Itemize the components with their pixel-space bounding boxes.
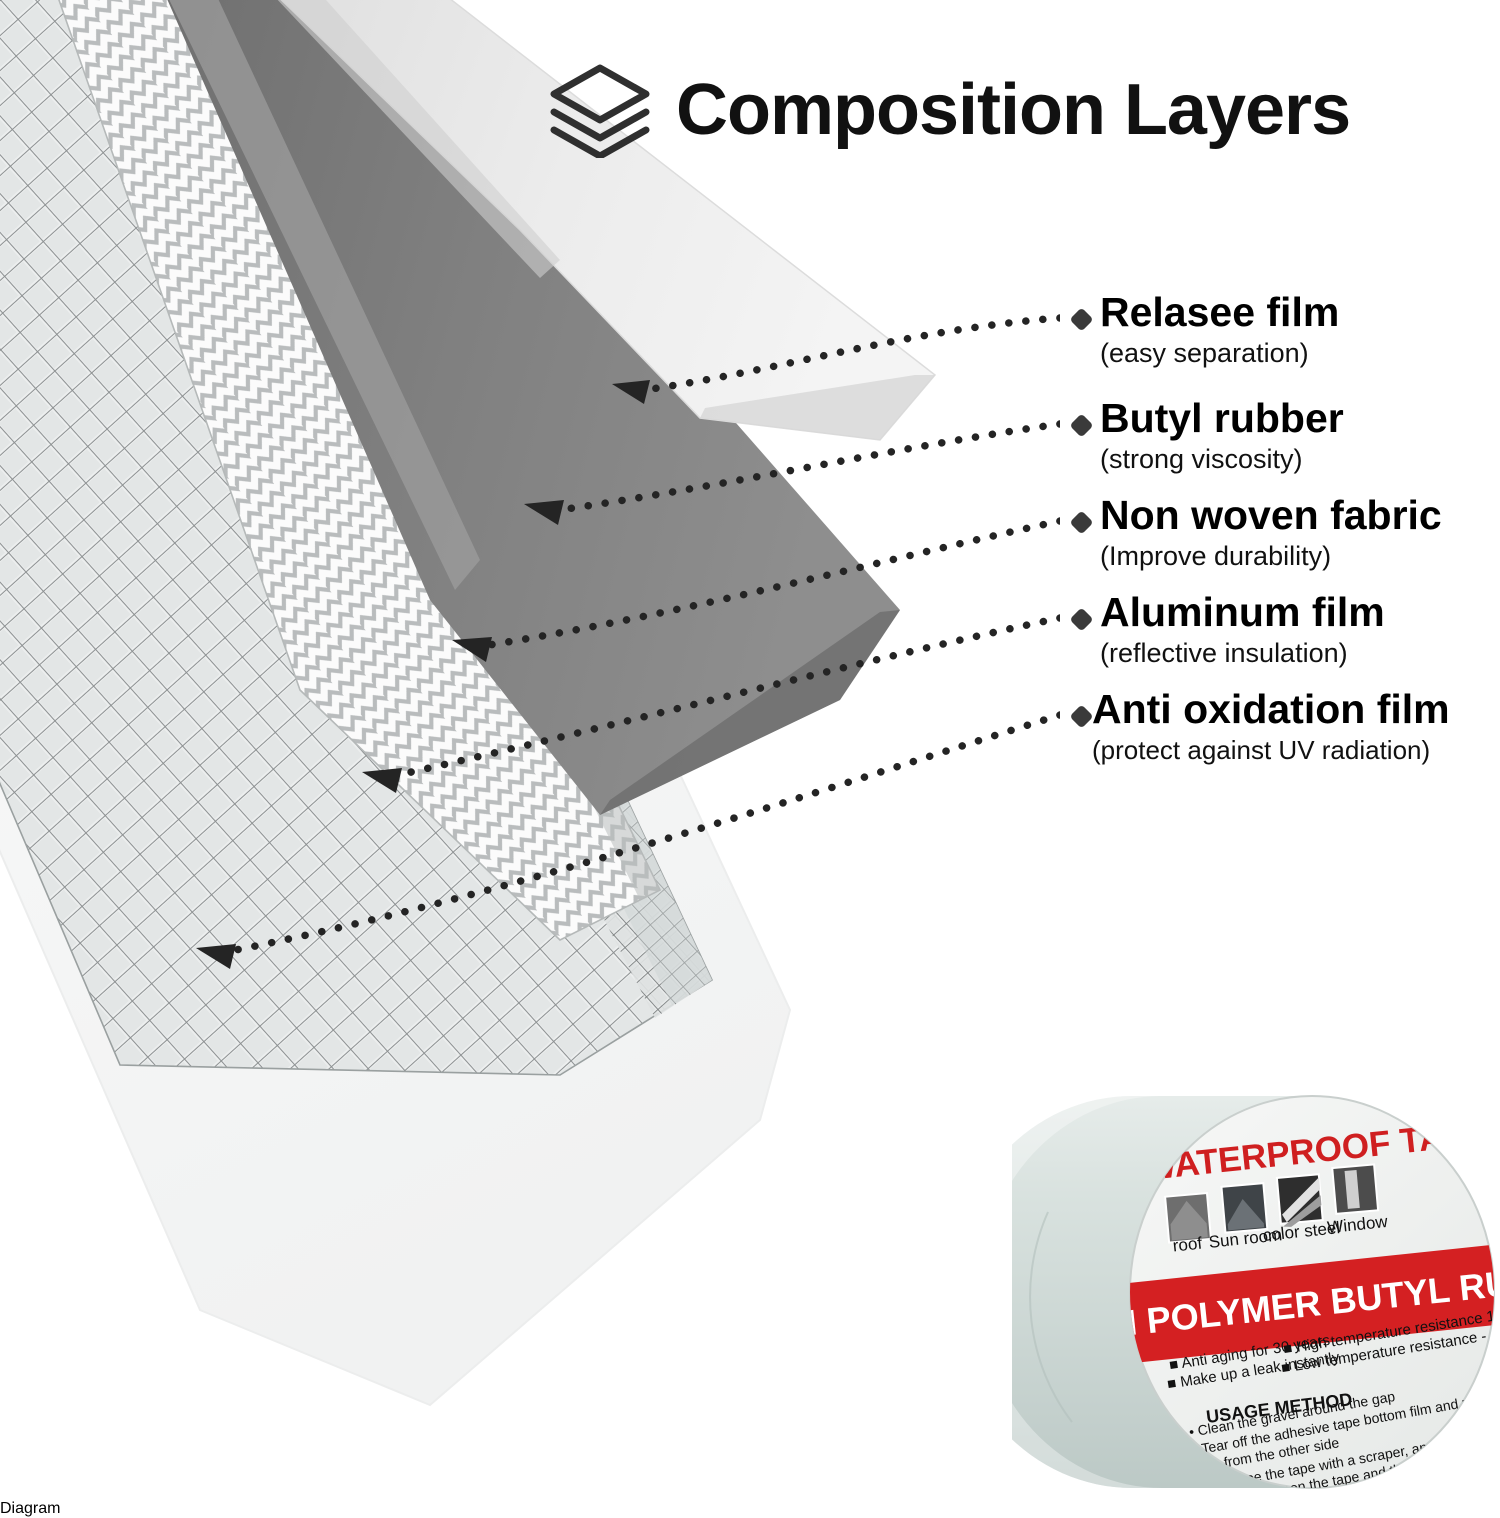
callout-butyl-rubber: Butyl rubber (strong viscosity) (1100, 398, 1344, 473)
callout-subtitle: (protect against UV radiation) (1092, 737, 1450, 763)
page-title-text: Composition Layers (676, 74, 1350, 146)
callout-subtitle: (strong viscosity) (1100, 446, 1344, 473)
composition-layers-diagram (0, 0, 1060, 1460)
callout-aluminum-film: Aluminum film (reflective insulation) (1100, 592, 1385, 667)
callout-subtitle: (Improve durability) (1100, 543, 1442, 570)
callout-dot-anti-oxidation-film (1069, 704, 1093, 728)
callout-title: Relasee film (1100, 292, 1339, 333)
layer-stack-icon (548, 62, 652, 158)
infographic-canvas: Composition Layers Relasee film (easy se… (0, 0, 1500, 1500)
product-roll-image: WATERPROOF TAPE roof Sun room color stee… (1012, 1092, 1500, 1492)
thumb-caption-roof: roof (1172, 1234, 1203, 1256)
callout-release-film: Relasee film (easy separation) (1100, 292, 1339, 367)
page-title: Composition Layers (548, 62, 1350, 158)
callout-title: Anti oxidation film (1092, 689, 1450, 730)
callout-dot-aluminum-film (1069, 607, 1093, 631)
callout-anti-oxidation-film: Anti oxidation film (protect against UV … (1092, 689, 1450, 763)
callout-dot-butyl-rubber (1069, 413, 1093, 437)
callout-title: Butyl rubber (1100, 398, 1344, 439)
callout-dot-release-film (1069, 307, 1093, 331)
callout-subtitle: (reflective insulation) (1100, 640, 1385, 667)
callout-dot-non-woven-fabric (1069, 510, 1093, 534)
callout-non-woven-fabric: Non woven fabric (Improve durability) (1100, 495, 1442, 570)
callout-subtitle: (easy separation) (1100, 340, 1339, 367)
callout-title: Aluminum film (1100, 592, 1385, 633)
callout-title: Non woven fabric (1100, 495, 1442, 536)
